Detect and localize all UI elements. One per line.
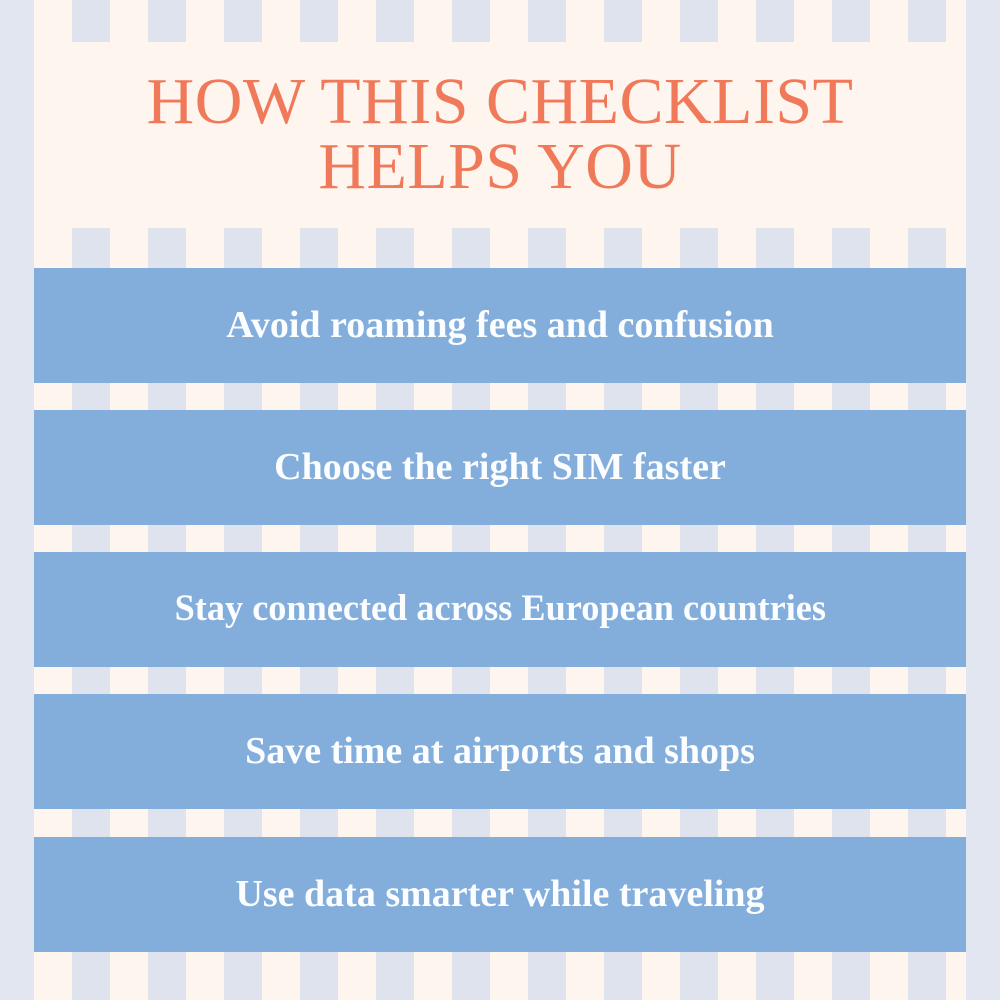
title-line-1: HOW THIS CHECKLIST [147, 65, 854, 138]
right-margin [966, 0, 1000, 1000]
benefit-bar-1[interactable]: Avoid roaming fees and confusion [34, 268, 966, 383]
infographic-poster: HOW THIS CHECKLIST HELPS YOU Avoid roami… [0, 0, 1000, 1000]
benefit-label-3: Stay connected across European countries [174, 589, 825, 630]
benefit-bar-2[interactable]: Choose the right SIM faster [34, 410, 966, 525]
title-text: HOW THIS CHECKLIST HELPS YOU [60, 70, 940, 199]
benefit-label-5: Use data smarter while traveling [235, 874, 764, 916]
benefit-label-2: Choose the right SIM faster [274, 447, 726, 489]
title-line-2: HELPS YOU [60, 135, 940, 200]
benefit-bar-5[interactable]: Use data smarter while traveling [34, 837, 966, 952]
benefit-bar-3[interactable]: Stay connected across European countries [34, 552, 966, 667]
benefit-bar-4[interactable]: Save time at airports and shops [34, 694, 966, 809]
benefit-label-4: Save time at airports and shops [245, 731, 755, 773]
benefit-label-1: Avoid roaming fees and confusion [226, 305, 774, 347]
left-margin [0, 0, 34, 1000]
page-title: HOW THIS CHECKLIST HELPS YOU [34, 42, 966, 228]
